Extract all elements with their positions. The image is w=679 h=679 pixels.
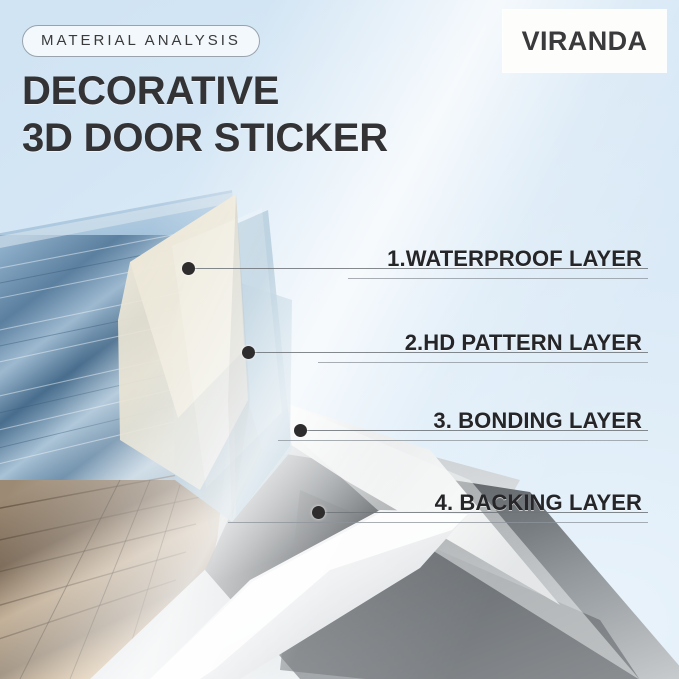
- material-analysis-badge: MATERIAL ANALYSIS: [22, 25, 260, 57]
- poster-canvas: MATERIAL ANALYSIS DECORATIVE 3D DOOR STI…: [0, 0, 679, 679]
- callout-label-4: 4. BACKING LAYER: [435, 490, 642, 516]
- callout-dot-2[interactable]: [242, 346, 255, 359]
- brand-logo-text: VIRANDA: [522, 26, 648, 57]
- callout-dot-4[interactable]: [312, 506, 325, 519]
- callout-dot-3[interactable]: [294, 424, 307, 437]
- brand-logo-box: VIRANDA: [503, 10, 666, 72]
- callout-label-2: 2.HD PATTERN LAYER: [405, 330, 642, 356]
- callout-label-1: 1.WATERPROOF LAYER: [387, 246, 642, 272]
- label-underline-2: [318, 362, 648, 363]
- title-line-2: 3D DOOR STICKER: [22, 115, 482, 162]
- callout-dot-1[interactable]: [182, 262, 195, 275]
- page-title: DECORATIVE 3D DOOR STICKER: [22, 68, 482, 162]
- label-underline-1: [348, 278, 648, 279]
- title-line-1: DECORATIVE: [22, 68, 482, 115]
- label-underline-4: [228, 522, 648, 523]
- label-underline-3: [278, 440, 648, 441]
- callout-label-3: 3. BONDING LAYER: [433, 408, 642, 434]
